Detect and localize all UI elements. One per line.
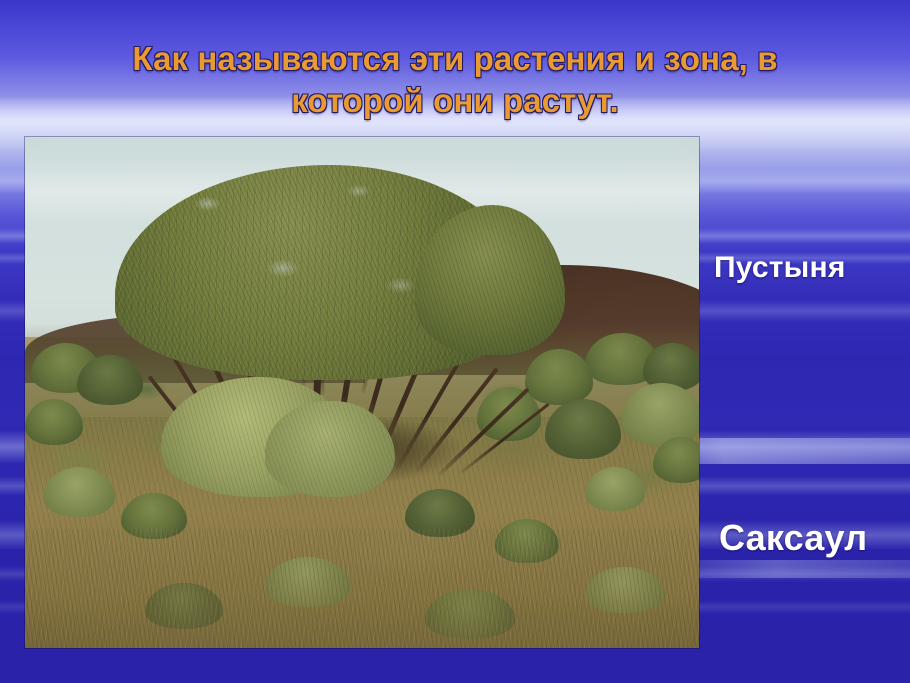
slide-title: Как называются эти растения и зона, в ко… [55,38,855,122]
photo-vignette [25,137,699,648]
label-saxaul-plant: Саксаул [719,517,867,559]
saxaul-photo [25,137,699,648]
presentation-slide: Как называются эти растения и зона, в ко… [0,0,910,683]
label-desert-zone: Пустыня [714,251,846,285]
